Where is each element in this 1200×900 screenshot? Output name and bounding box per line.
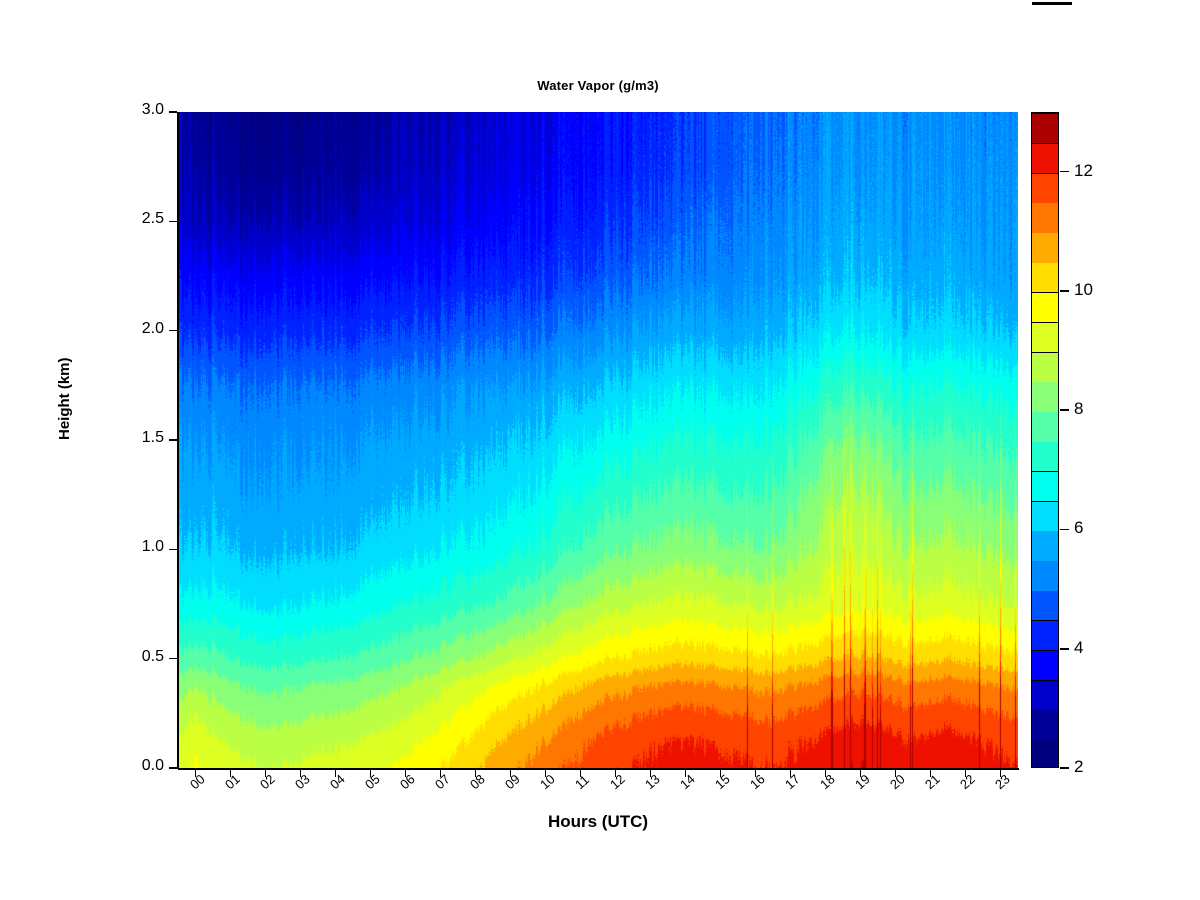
x-tick-label: 23 bbox=[992, 771, 1013, 792]
colorbar-band bbox=[1032, 709, 1058, 739]
colorbar-band bbox=[1032, 650, 1058, 680]
x-tick-label: 07 bbox=[432, 771, 453, 792]
y-axis-title: Height (km) bbox=[56, 358, 73, 441]
colorbar-band bbox=[1032, 501, 1058, 531]
y-tick bbox=[169, 330, 177, 332]
x-tick-label: 11 bbox=[572, 772, 592, 792]
x-tick-label: 08 bbox=[467, 771, 488, 792]
colorbar-tick-label: 12 bbox=[1074, 161, 1093, 181]
x-tick-label: 10 bbox=[537, 771, 558, 792]
y-tick-label: 2.5 bbox=[142, 210, 164, 228]
colorbar-tick bbox=[1060, 648, 1069, 650]
colorbar bbox=[1031, 112, 1059, 768]
x-tick-label: 16 bbox=[747, 771, 768, 792]
y-tick bbox=[169, 658, 177, 660]
colorbar-band bbox=[1032, 590, 1058, 620]
x-tick-label: 03 bbox=[292, 771, 313, 792]
x-axis-title: Hours (UTC) bbox=[178, 812, 1018, 832]
x-tick-label: 13 bbox=[642, 771, 663, 792]
x-tick-label: 18 bbox=[817, 771, 838, 792]
colorbar-band bbox=[1032, 381, 1058, 411]
colorbar-band bbox=[1032, 322, 1058, 352]
colorbar-tick-label: 4 bbox=[1074, 638, 1083, 658]
y-tick-label: 0.0 bbox=[142, 757, 164, 775]
x-tick-label: 19 bbox=[852, 771, 873, 792]
y-tick-label: 2.0 bbox=[142, 320, 164, 338]
x-axis-line bbox=[178, 768, 1019, 770]
colorbar-band bbox=[1032, 262, 1058, 292]
colorbar-band bbox=[1032, 173, 1058, 203]
colorbar-band bbox=[1032, 232, 1058, 262]
y-tick-label: 1.0 bbox=[142, 538, 164, 556]
colorbar-band bbox=[1032, 411, 1058, 441]
colorbar-band bbox=[1032, 739, 1058, 768]
top-edge-artifact bbox=[1032, 2, 1072, 5]
colorbar-tick bbox=[1060, 529, 1069, 531]
page-title: Water Vapor (g/m3) bbox=[178, 78, 1018, 93]
y-axis-line bbox=[177, 112, 179, 769]
colorbar-tick-label: 10 bbox=[1074, 280, 1093, 300]
colorbar-tick bbox=[1060, 767, 1069, 769]
colorbar-tick-label: 8 bbox=[1074, 399, 1083, 419]
colorbar-band bbox=[1032, 680, 1058, 710]
heatmap-plot-area bbox=[178, 112, 1018, 768]
colorbar-tick bbox=[1060, 171, 1069, 173]
colorbar-band bbox=[1032, 441, 1058, 471]
colorbar-tick bbox=[1060, 409, 1069, 411]
y-tick bbox=[169, 767, 177, 769]
water-vapor-figure: Water Vapor (g/m3) 0.00.51.01.52.02.53.0… bbox=[0, 0, 1200, 900]
x-tick-label: 01 bbox=[222, 771, 243, 792]
x-tick-label: 09 bbox=[502, 771, 523, 792]
x-tick-label: 05 bbox=[362, 771, 383, 792]
colorbar-band bbox=[1032, 352, 1058, 382]
colorbar-tick-label: 6 bbox=[1074, 518, 1083, 538]
x-tick-label: 22 bbox=[957, 771, 978, 792]
y-tick-label: 1.5 bbox=[142, 429, 164, 447]
colorbar-band bbox=[1032, 620, 1058, 650]
colorbar-band bbox=[1032, 113, 1058, 143]
colorbar-tick-label: 2 bbox=[1074, 757, 1083, 777]
x-tick-label: 20 bbox=[887, 771, 908, 792]
x-tick-label: 17 bbox=[782, 771, 803, 792]
x-tick-label: 02 bbox=[257, 771, 278, 792]
water-vapor-heatmap-canvas bbox=[178, 112, 1018, 768]
colorbar-band bbox=[1032, 471, 1058, 501]
y-axis-tick-labels: 0.00.51.01.52.02.53.0 bbox=[90, 0, 164, 900]
x-tick-label: 21 bbox=[922, 771, 943, 792]
x-tick-label: 00 bbox=[187, 771, 208, 792]
colorbar-band bbox=[1032, 530, 1058, 560]
x-tick-label: 15 bbox=[712, 771, 733, 792]
colorbar-band bbox=[1032, 143, 1058, 173]
x-tick-label: 14 bbox=[677, 771, 698, 792]
colorbar-band bbox=[1032, 292, 1058, 322]
y-tick bbox=[169, 439, 177, 441]
y-tick bbox=[169, 549, 177, 551]
y-tick bbox=[169, 111, 177, 113]
x-tick-label: 04 bbox=[327, 771, 348, 792]
y-tick-label: 0.5 bbox=[142, 648, 164, 666]
y-tick-label: 3.0 bbox=[142, 101, 164, 119]
colorbar-tick bbox=[1060, 290, 1069, 292]
colorbar-band bbox=[1032, 202, 1058, 232]
colorbar-band bbox=[1032, 560, 1058, 590]
x-tick-label: 06 bbox=[397, 771, 418, 792]
y-tick bbox=[169, 221, 177, 223]
x-tick-label: 12 bbox=[607, 771, 628, 792]
